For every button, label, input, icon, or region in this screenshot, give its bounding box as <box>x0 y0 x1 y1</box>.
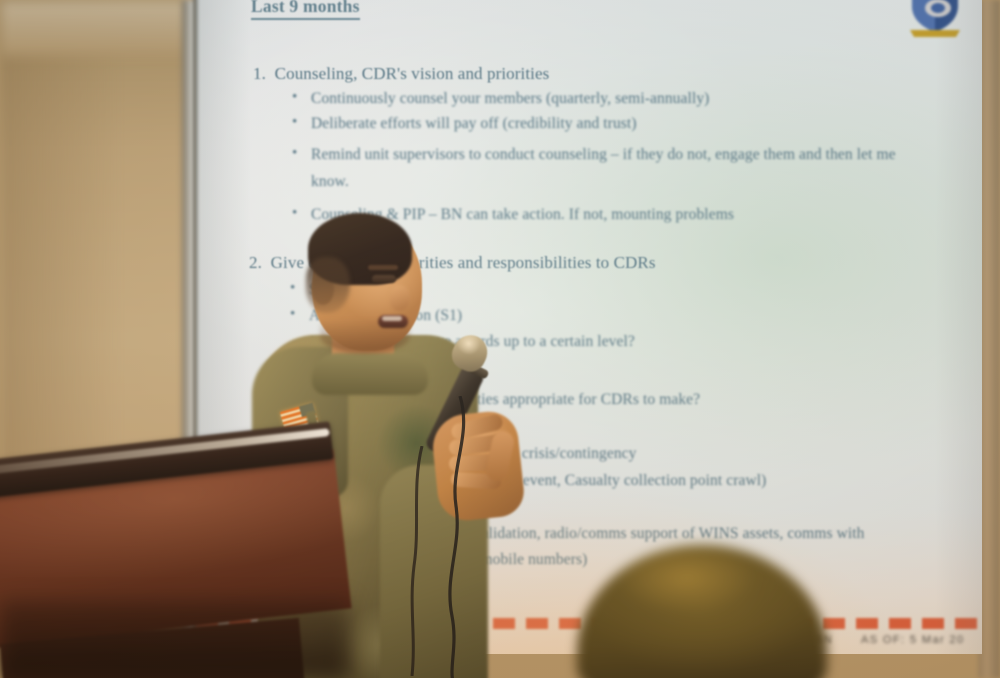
slide-footer-asof-label: AS OF: <box>861 634 905 646</box>
eye <box>372 275 396 283</box>
slide-bullet-continuation: know. <box>311 173 349 191</box>
microphone <box>405 335 525 525</box>
slide-bullet: Continuously counsel your members (quart… <box>311 90 709 108</box>
room-wall-top-band <box>0 0 196 56</box>
photo-canvas: Last 9 months 1. Counseling, CDR's visio… <box>0 0 1000 678</box>
podium-shadow <box>0 600 350 678</box>
slide-title: Last 9 months <box>251 0 360 20</box>
slide-section-1-heading: 1. Counseling, CDR's vision and prioriti… <box>253 64 549 84</box>
slide-bullet: Deliberate efforts will pay off (credibi… <box>311 115 637 133</box>
slide-footer-asof-date: 5 Mar 20 <box>910 634 965 646</box>
slide-bullet: Remind unit supervisors to conduct couns… <box>311 146 896 164</box>
hair-fade <box>306 257 350 313</box>
eyebrow <box>368 265 398 270</box>
slide-section-1-number: 1. <box>253 64 266 83</box>
teeth <box>382 316 402 321</box>
unit-crest-icon <box>904 0 966 38</box>
nose <box>390 285 410 311</box>
slide-section-1-text: Counseling, CDR's vision and priorities <box>275 64 550 83</box>
